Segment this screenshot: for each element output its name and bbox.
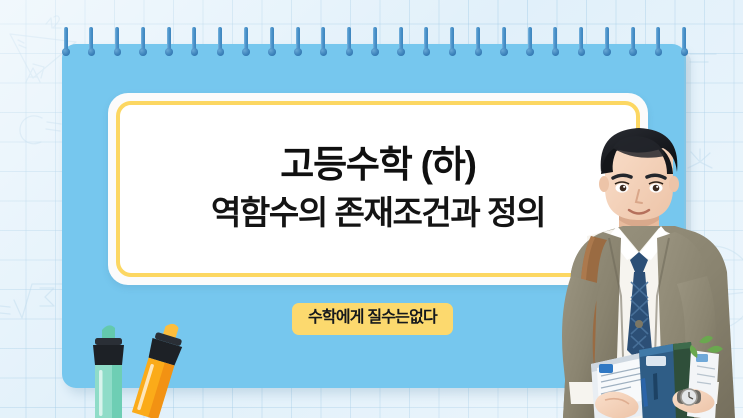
spiral-pin xyxy=(62,27,69,59)
spiral-binding xyxy=(62,27,688,61)
spiral-pin xyxy=(139,27,146,59)
spiral-pin xyxy=(268,27,275,59)
spiral-pin xyxy=(500,27,507,59)
spiral-pin xyxy=(217,27,224,59)
title-panel: 고등수학 (하) 역함수의 존재조건과 정의 xyxy=(108,93,648,285)
spiral-pin xyxy=(655,27,662,59)
spiral-pin xyxy=(165,27,172,59)
spiral-pin xyxy=(603,27,610,59)
spiral-pin xyxy=(371,27,378,59)
spiral-pin xyxy=(475,27,482,59)
spiral-pin xyxy=(526,27,533,59)
spiral-pin xyxy=(320,27,327,59)
spiral-pin xyxy=(88,27,95,59)
spiral-pin xyxy=(191,27,198,59)
page-title: 고등수학 (하) xyxy=(280,146,476,185)
spiral-pin xyxy=(552,27,559,59)
yellow-frame-border: 고등수학 (하) 역함수의 존재조건과 정의 xyxy=(116,101,640,277)
spiral-pin xyxy=(449,27,456,59)
slide-canvas: 고등수학 (하) 역함수의 존재조건과 정의 수학에게 질수는없다 xyxy=(0,0,743,418)
spiral-pin xyxy=(629,27,636,59)
page-subtitle: 역함수의 존재조건과 정의 xyxy=(211,194,545,232)
spiral-pin xyxy=(294,27,301,59)
spiral-pin xyxy=(681,27,688,59)
spiral-pin xyxy=(114,27,121,59)
slogan-badge: 수학에게 질수는없다 xyxy=(292,303,453,335)
spiral-pin xyxy=(346,27,353,59)
spiral-pin xyxy=(397,27,404,59)
spiral-pin xyxy=(578,27,585,59)
spiral-pin xyxy=(242,27,249,59)
spiral-pin xyxy=(423,27,430,59)
